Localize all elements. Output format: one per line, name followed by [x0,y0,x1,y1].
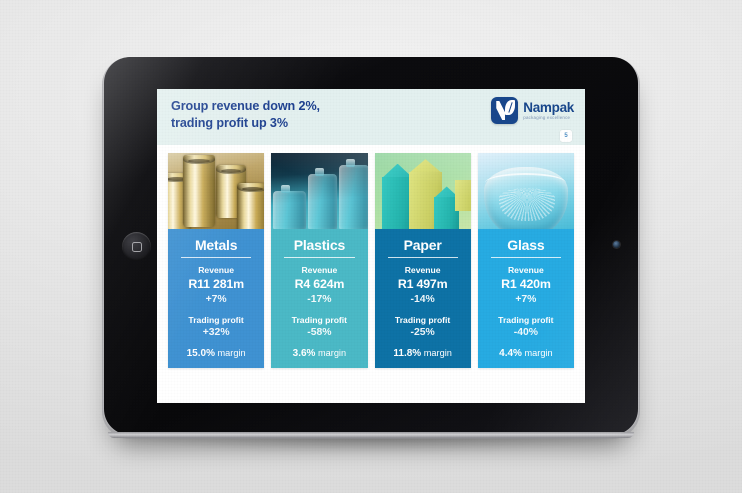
nampak-logo-icon [491,97,518,124]
card-paper-margin: 11.8% margin [380,348,466,359]
card-metals-margin-value: 15.0% [187,348,215,359]
card-paper-trading-profit-change: -25% [380,326,466,340]
segment-cards: Metals Revenue R11 281m +7% Trading prof… [157,145,585,368]
card-glass-margin: 4.4% margin [483,348,569,359]
card-metals-body: Metals Revenue R11 281m +7% Trading prof… [168,229,264,368]
page-number-badge: 5 [560,130,572,142]
card-divider [388,257,458,258]
card-divider [181,257,251,258]
card-divider [284,257,354,258]
card-glass-body: Glass Revenue R1 420m +7% Trading profit… [478,229,574,368]
margin-suffix: margin [525,348,553,358]
trading-profit-label: Trading profit [276,314,362,326]
card-metals-revenue-value: R11 281m [173,276,259,292]
revenue-label: Revenue [276,264,362,276]
card-plastics-title: Plastics [276,234,362,257]
card-glass-revenue-change: +7% [483,293,569,307]
plastic-bottles-photo [271,153,367,229]
card-metals-margin: 15.0% margin [173,348,259,359]
revenue-label: Revenue [173,264,259,276]
card-paper-title: Paper [380,234,466,257]
slide-header: Group revenue down 2%, trading profit up… [157,89,585,145]
brand-logo: Nampak packaging excellence [491,97,574,124]
card-glass-trading-profit-change: -40% [483,326,569,340]
home-button[interactable] [122,232,151,261]
card-plastics-trading-profit-change: -58% [276,326,362,340]
trading-profit-label: Trading profit [173,314,259,326]
revenue-label: Revenue [483,264,569,276]
card-paper-body: Paper Revenue R1 497m -14% Trading profi… [375,229,471,368]
card-paper-margin-value: 11.8% [393,348,421,359]
home-button-square-icon [132,242,142,252]
tablet-device: Group revenue down 2%, trading profit up… [104,57,638,435]
tablet-metal-edge [108,432,634,438]
card-metals[interactable]: Metals Revenue R11 281m +7% Trading prof… [168,153,264,368]
card-metals-revenue-change: +7% [173,293,259,307]
logo-n-glyph [496,101,505,120]
photo-scene: Group revenue down 2%, trading profit up… [0,0,742,493]
aluminium-cans-photo [168,153,264,229]
card-paper-revenue-value: R1 497m [380,276,466,292]
paper-cartons-photo [375,153,471,229]
card-paper-revenue-change: -14% [380,293,466,307]
margin-suffix: margin [218,348,246,358]
card-plastics-margin: 3.6% margin [276,348,362,359]
margin-suffix: margin [424,348,452,358]
card-plastics-revenue-value: R4 624m [276,276,362,292]
brand-tagline: packaging excellence [523,116,574,120]
card-glass[interactable]: Glass Revenue R1 420m +7% Trading profit… [478,153,574,368]
card-plastics-margin-value: 3.6% [293,348,316,359]
card-plastics-body: Plastics Revenue R4 624m -17% Trading pr… [271,229,367,368]
card-plastics-revenue-change: -17% [276,293,362,307]
card-metals-title: Metals [173,234,259,257]
margin-suffix: margin [318,348,346,358]
glass-bottle-photo [478,153,574,229]
card-paper[interactable]: Paper Revenue R1 497m -14% Trading profi… [375,153,471,368]
brand-name: Nampak [523,101,574,115]
card-glass-margin-value: 4.4% [499,348,522,359]
brand-text: Nampak packaging excellence [523,101,574,121]
revenue-label: Revenue [380,264,466,276]
card-plastics[interactable]: Plastics Revenue R4 624m -17% Trading pr… [271,153,367,368]
trading-profit-label: Trading profit [380,314,466,326]
card-glass-title: Glass [483,234,569,257]
front-camera-icon [613,241,620,248]
card-divider [491,257,561,258]
tablet-screen[interactable]: Group revenue down 2%, trading profit up… [157,89,585,403]
card-metals-trading-profit-change: +32% [173,326,259,340]
trading-profit-label: Trading profit [483,314,569,326]
card-glass-revenue-value: R1 420m [483,276,569,292]
